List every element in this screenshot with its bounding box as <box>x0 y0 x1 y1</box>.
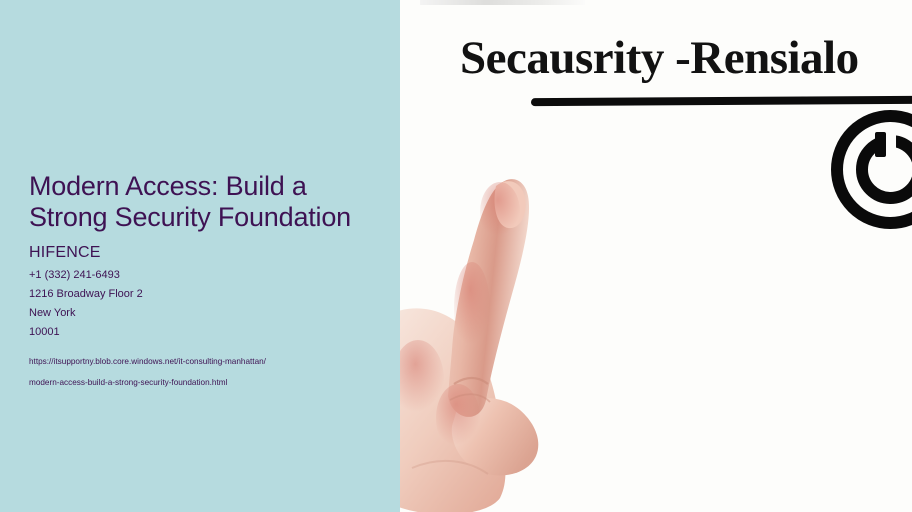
power-ring-stem <box>875 132 886 157</box>
source-url[interactable]: https://itsupportny.blob.core.windows.ne… <box>29 351 379 393</box>
source-url-line-1[interactable]: https://itsupportny.blob.core.windows.ne… <box>29 351 379 372</box>
phone-number[interactable]: +1 (332) 241-6493 <box>29 266 379 285</box>
heading-underline-rule <box>531 96 912 106</box>
info-panel-content: Modern Access: Build a Strong Security F… <box>29 171 379 393</box>
pointing-hand-illustration <box>400 168 582 512</box>
postal-code: 10001 <box>29 323 379 342</box>
page-title: Modern Access: Build a Strong Security F… <box>29 171 374 233</box>
illustration-panel: Secausrity -Rensialo 1 Sneelcnt Eanaerre… <box>400 0 912 512</box>
info-panel: Modern Access: Build a Strong Security F… <box>0 0 400 512</box>
source-url-line-2[interactable]: modern-access-build-a-strong-security-fo… <box>29 372 379 393</box>
city: New York <box>29 304 379 323</box>
power-ring-icon[interactable] <box>831 110 912 217</box>
illustration-heading: Secausrity -Rensialo <box>460 32 859 84</box>
brand-name: HIFENCE <box>29 243 379 263</box>
paper-edge-decoration <box>420 0 585 5</box>
street-address: 1216 Broadway Floor 2 <box>29 285 379 304</box>
promo-card: Modern Access: Build a Strong Security F… <box>0 0 912 512</box>
